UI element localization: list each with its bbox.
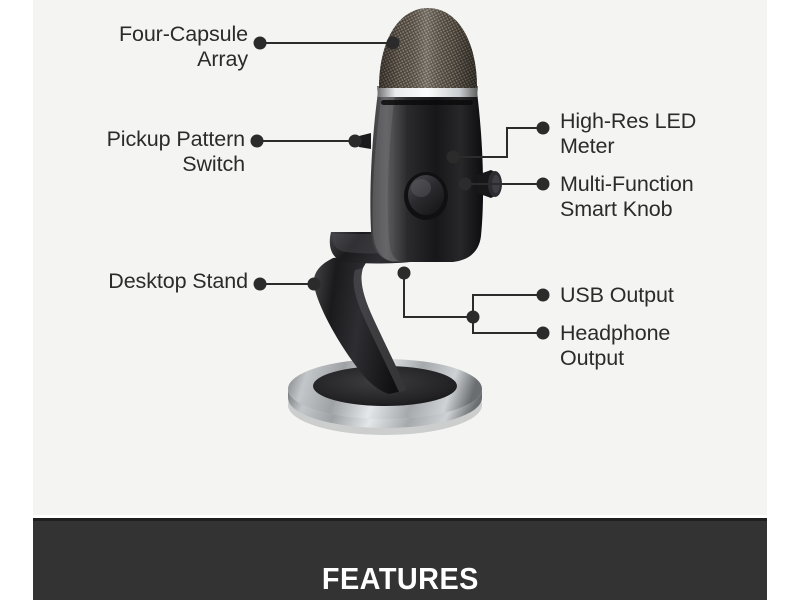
callout-label-pickup-pattern-switch: Pickup Pattern Switch [71,127,245,176]
callout-label-multi-function-smart-knob: Multi-Function Smart Knob [560,172,694,221]
diagram-panel: Four-Capsule ArrayPickup Pattern SwitchD… [33,0,767,515]
screenshot-root: Four-Capsule ArrayPickup Pattern SwitchD… [0,0,800,600]
mic-grille [379,8,477,88]
features-title: FEATURES [322,563,479,600]
callout-label-high-res-led-meter: High-Res LED Meter [560,109,696,158]
features-bar: FEATURES [33,518,767,600]
callout-label-four-capsule-array: Four-Capsule Array [80,22,248,71]
mic-mute-button [404,172,448,220]
mic-pattern-switch [357,133,371,149]
callout-label-desktop-stand: Desktop Stand [74,269,248,294]
mic-smart-knob [477,170,502,198]
callout-label-headphone-output: Headphone Output [560,321,670,370]
callout-label-usb-output: USB Output [560,283,674,308]
microphone-illustration [33,0,767,515]
